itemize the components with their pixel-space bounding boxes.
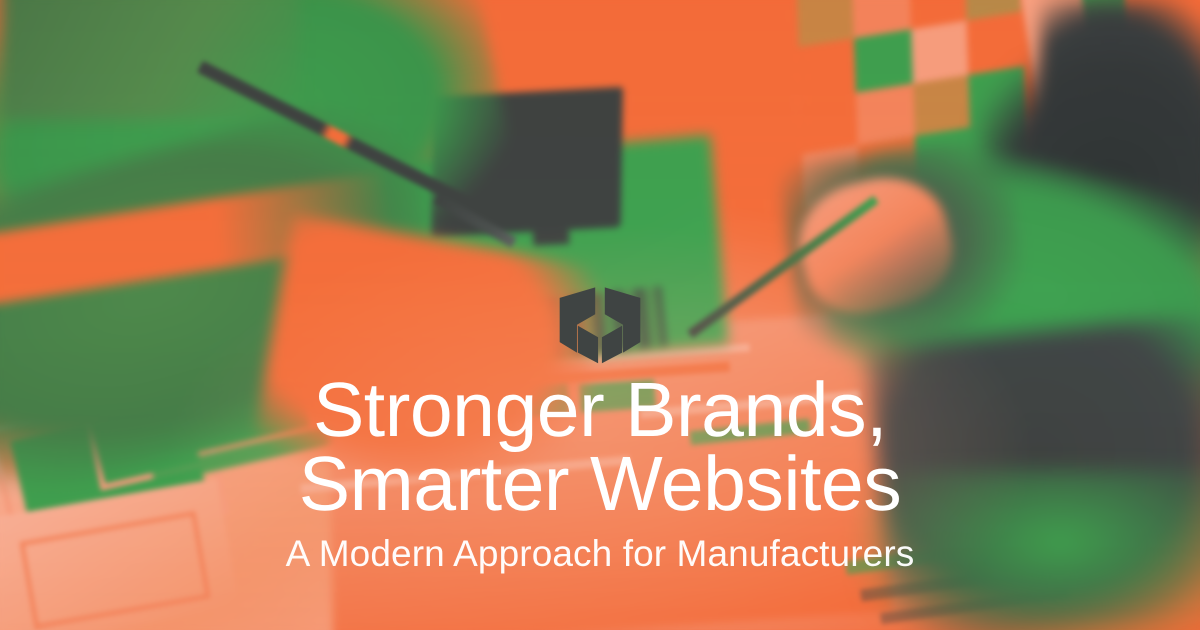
title-line-2: Smarter Websites bbox=[299, 448, 901, 522]
banner-content: Stronger Brands, Smarter Websites A Mode… bbox=[0, 0, 1200, 630]
title-line-1: Stronger Brands, bbox=[299, 374, 901, 448]
social-share-banner: Stronger Brands, Smarter Websites A Mode… bbox=[0, 0, 1200, 630]
page-title: Stronger Brands, Smarter Websites bbox=[259, 374, 941, 522]
cube-logo-icon bbox=[552, 272, 648, 368]
page-subtitle: A Modern Approach for Manufacturers bbox=[286, 534, 915, 575]
